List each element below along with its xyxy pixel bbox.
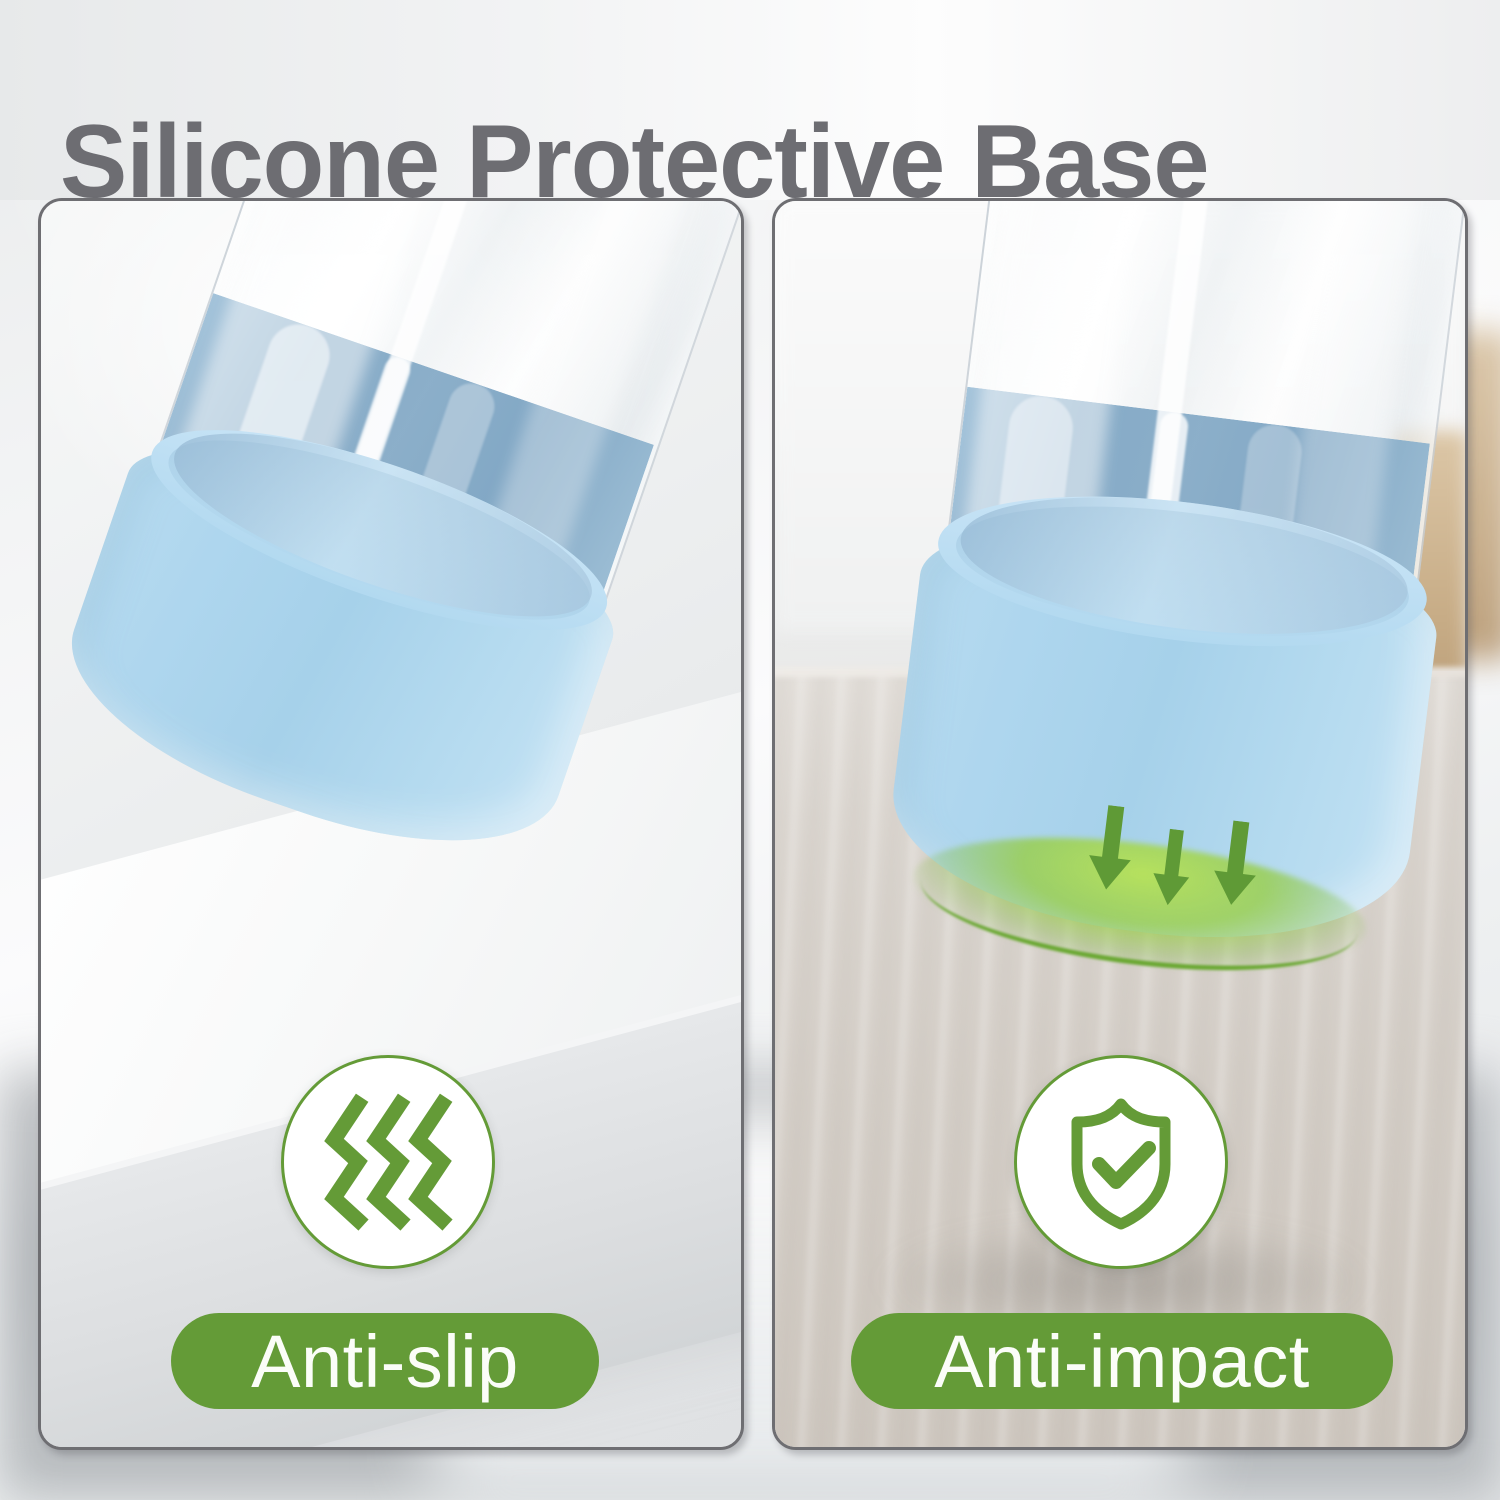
zigzag-lines-icon <box>318 1092 458 1232</box>
impact-arrow-1 <box>1081 803 1141 894</box>
label-pill-anti-slip: Anti-slip <box>171 1313 599 1409</box>
panel-anti-impact: Anti-impact <box>772 198 1468 1450</box>
badge-circle-anti-impact <box>1014 1055 1228 1269</box>
panel-anti-slip: Anti-slip <box>38 198 744 1450</box>
badge-label-anti-slip: Anti-slip <box>251 1319 519 1404</box>
impact-arrow-3 <box>1206 818 1266 909</box>
infographic-stage: Silicone Protective Base <box>0 0 1500 1500</box>
badge-label-anti-impact: Anti-impact <box>934 1319 1310 1404</box>
badge-circle-anti-slip <box>281 1055 495 1269</box>
shield-check-icon <box>1051 1092 1191 1232</box>
bottle-right <box>818 198 1468 1086</box>
impact-arrow-2 <box>1146 827 1199 910</box>
label-pill-anti-impact: Anti-impact <box>851 1313 1393 1409</box>
